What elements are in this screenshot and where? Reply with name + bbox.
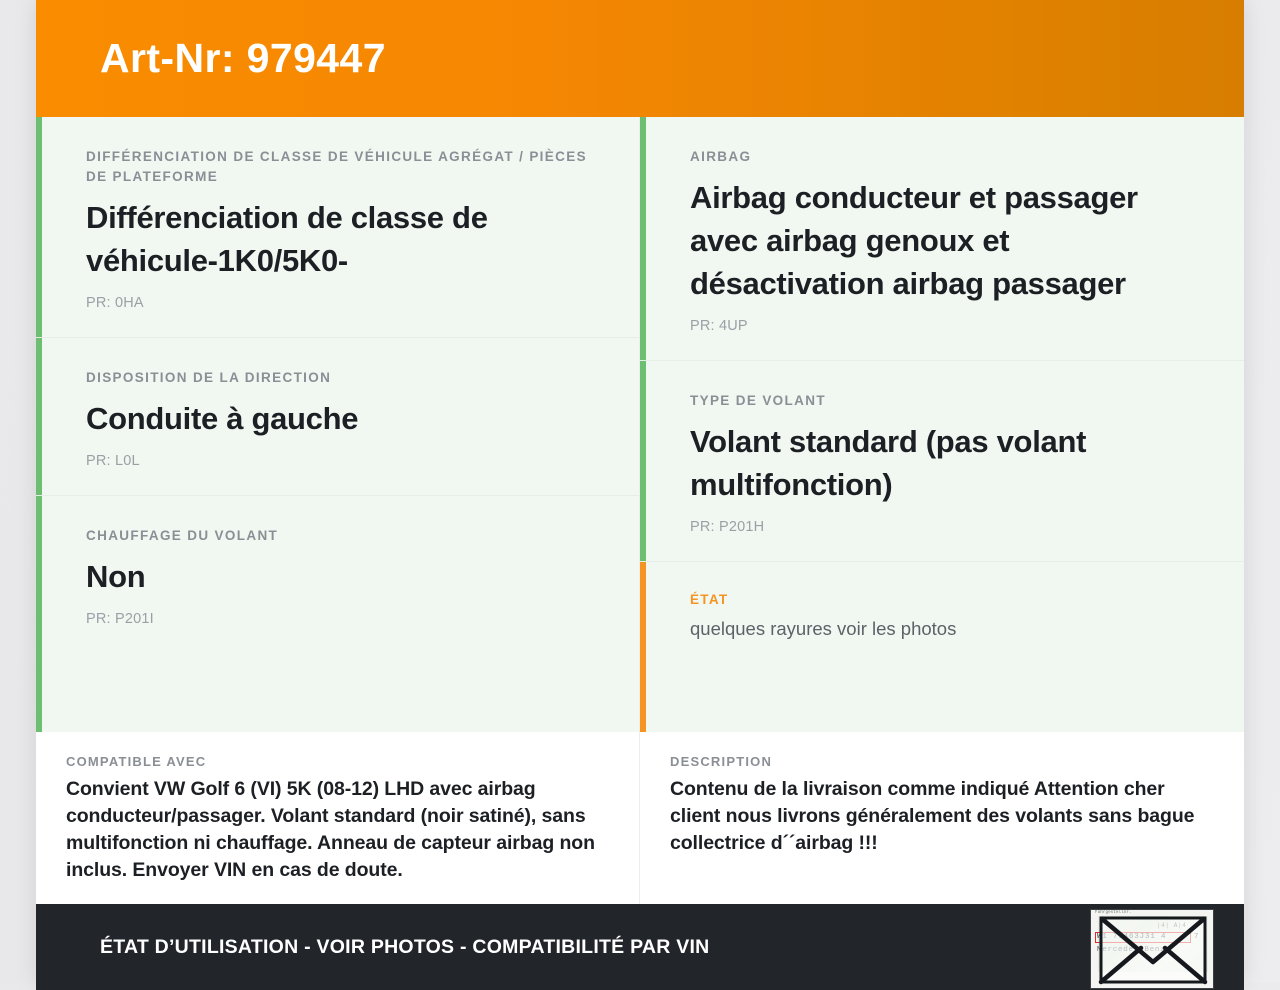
page-title: Art-Nr: 979447 xyxy=(36,35,386,82)
spec-code: PR: 4UP xyxy=(690,318,1198,334)
description-text: Contenu de la livraison comme indiqué At… xyxy=(670,776,1204,857)
spec-card: CHAUFFAGE DU VOLANT Non PR: P201I xyxy=(36,496,639,732)
right-column: AIRBAG Airbag conducteur et passager ave… xyxy=(640,117,1244,732)
left-column: DIFFÉRENCIATION DE CLASSE DE VÉHICULE AG… xyxy=(36,117,640,732)
state-text: quelques rayures voir les photos xyxy=(690,616,1198,642)
envelope-icon xyxy=(1091,910,1214,989)
spec-value: Airbag conducteur et passager avec airba… xyxy=(690,176,1198,305)
state-card: ÉTAT quelques rayures voir les photos xyxy=(640,562,1244,732)
spec-label: DISPOSITION DE LA DIRECTION xyxy=(86,368,593,388)
compatibility-note: COMPATIBLE AVEC Convient VW Golf 6 (VI) … xyxy=(36,732,640,904)
description-note: DESCRIPTION Contenu de la livraison comm… xyxy=(640,732,1244,904)
spec-label: AIRBAG xyxy=(690,147,1198,167)
spec-card: DIFFÉRENCIATION DE CLASSE DE VÉHICULE AG… xyxy=(36,117,639,338)
footer-text: ÉTAT D’UTILISATION - VOIR PHOTOS - COMPA… xyxy=(36,936,709,959)
compatibility-text: Convient VW Golf 6 (VI) 5K (08-12) LHD a… xyxy=(66,776,599,884)
description-label: DESCRIPTION xyxy=(670,754,1204,769)
spec-value: Volant standard (pas volant multifonctio… xyxy=(690,420,1198,506)
header-banner: Art-Nr: 979447 xyxy=(36,0,1244,117)
spec-value: Conduite à gauche xyxy=(86,397,593,440)
product-spec-sheet: Art-Nr: 979447 DIFFÉRENCIATION DE CLASSE… xyxy=(36,0,1244,983)
spec-card: TYPE DE VOLANT Volant standard (pas vola… xyxy=(640,361,1244,562)
state-label: ÉTAT xyxy=(690,592,1198,607)
spec-card: DISPOSITION DE LA DIRECTION Conduite à g… xyxy=(36,338,639,496)
compatibility-label: COMPATIBLE AVEC xyxy=(66,754,599,769)
vin-document-thumbnail: Fahrgestellnr. |4| A|4 W1 71463J31 4 7 M… xyxy=(1090,909,1214,989)
spec-columns: DIFFÉRENCIATION DE CLASSE DE VÉHICULE AG… xyxy=(36,117,1244,732)
footer-bar: ÉTAT D’UTILISATION - VOIR PHOTOS - COMPA… xyxy=(36,904,1244,990)
spec-label: TYPE DE VOLANT xyxy=(690,391,1198,411)
spec-code: PR: 0HA xyxy=(86,295,593,311)
spec-label: DIFFÉRENCIATION DE CLASSE DE VÉHICULE AG… xyxy=(86,147,593,187)
spec-code: PR: P201I xyxy=(86,611,593,627)
notes-row: COMPATIBLE AVEC Convient VW Golf 6 (VI) … xyxy=(36,732,1244,904)
spec-value: Non xyxy=(86,555,593,598)
spec-card: AIRBAG Airbag conducteur et passager ave… xyxy=(640,117,1244,361)
spec-code: PR: P201H xyxy=(690,519,1198,535)
spec-code: PR: L0L xyxy=(86,453,593,469)
spec-label: CHAUFFAGE DU VOLANT xyxy=(86,526,593,546)
spec-value: Différenciation de classe de véhicule-1K… xyxy=(86,196,593,282)
